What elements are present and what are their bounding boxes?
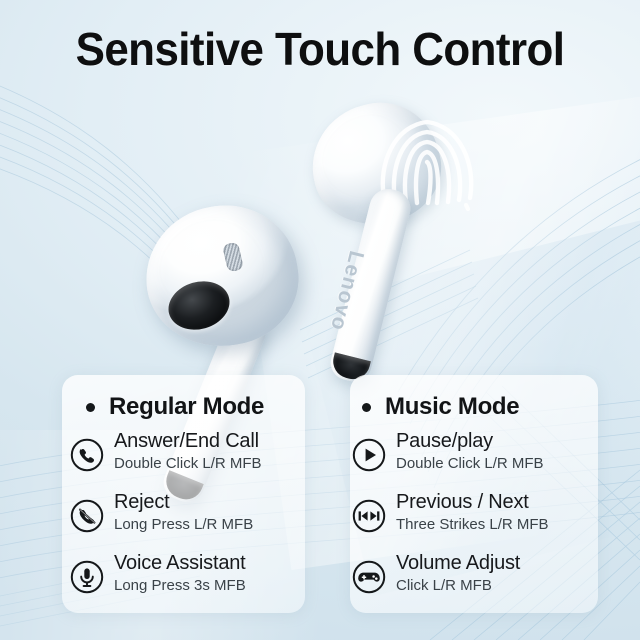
regular-mode-card: Regular Mode Answer/End Call Double Clic… [62, 375, 305, 613]
feature-title: Voice Assistant [114, 552, 246, 574]
feature-row-text: Answer/End Call Double Click L/R MFB [114, 429, 262, 474]
feature-row-text: Volume Adjust Click L/R MFB [396, 551, 520, 596]
feature-subtitle: Three Strikes L/R MFB [396, 515, 549, 535]
bullet-dot-icon [86, 403, 95, 412]
music-mode-heading-label: Music Mode [385, 393, 519, 421]
left-earbud-body [136, 195, 308, 357]
previous-next-icon [352, 499, 386, 533]
feature-title: Reject [114, 491, 170, 513]
feature-title: Volume Adjust [396, 552, 520, 574]
music-mode-card: Music Mode Pause/play Double Click L/R M… [350, 375, 598, 613]
feature-subtitle: Long Press L/R MFB [114, 515, 253, 535]
feature-row: Previous / Next Three Strikes L/R MFB [350, 490, 598, 551]
feature-row: Pause/play Double Click L/R MFB [350, 429, 598, 490]
music-mode-heading: Music Mode [362, 393, 519, 421]
microphone-icon [70, 560, 104, 594]
bullet-dot-icon [362, 403, 371, 412]
feature-title: Answer/End Call [114, 430, 259, 452]
feature-row-text: Reject Long Press L/R MFB [114, 490, 253, 535]
feature-subtitle: Double Click L/R MFB [396, 454, 544, 474]
feature-row-text: Pause/play Double Click L/R MFB [396, 429, 544, 474]
feature-row-text: Voice Assistant Long Press 3s MFB [114, 551, 246, 596]
feature-title: Pause/play [396, 430, 493, 452]
feature-title: Previous / Next [396, 491, 529, 513]
page-title: Sensitive Touch Control [14, 22, 625, 76]
play-icon [352, 438, 386, 472]
regular-mode-heading-label: Regular Mode [109, 393, 264, 421]
gamepad-icon [352, 560, 386, 594]
feature-row: Reject Long Press L/R MFB [62, 490, 305, 551]
phone-icon [70, 438, 104, 472]
feature-subtitle: Long Press 3s MFB [114, 576, 246, 596]
feature-row-text: Previous / Next Three Strikes L/R MFB [396, 490, 549, 535]
feature-subtitle: Click L/R MFB [396, 576, 520, 596]
phone-slash-icon [70, 499, 104, 533]
regular-mode-rows: Answer/End Call Double Click L/R MFB Rej… [62, 429, 305, 612]
infographic-canvas: Sensitive Touch Control Lenovo [0, 0, 640, 640]
feature-row: Voice Assistant Long Press 3s MFB [62, 551, 305, 612]
regular-mode-heading: Regular Mode [86, 393, 264, 421]
feature-subtitle: Double Click L/R MFB [114, 454, 262, 474]
feature-row: Volume Adjust Click L/R MFB [350, 551, 598, 612]
music-mode-rows: Pause/play Double Click L/R MFB Previous… [350, 429, 598, 612]
feature-row: Answer/End Call Double Click L/R MFB [62, 429, 305, 490]
